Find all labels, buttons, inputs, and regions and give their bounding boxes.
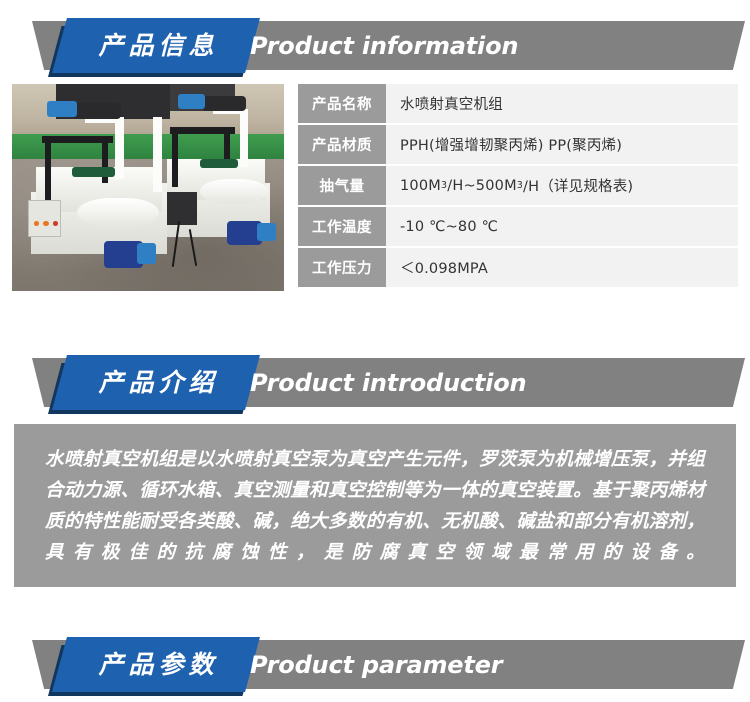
photo-machine1-roots-pump: [72, 103, 121, 120]
photo-machine2-top-rail: [170, 127, 235, 134]
spec-label: 抽气量: [298, 166, 386, 205]
table-row: 工作温度 -10 ℃~80 ℃: [298, 207, 738, 246]
section-header-product-introduction: 产品介绍 Product introduction: [0, 345, 750, 407]
product-information-content: 产品名称 水喷射真空机组 产品材质 PPH(增强增韧聚丙烯) PP(聚丙烯) 抽…: [0, 84, 750, 292]
banner-tab-product-introduction: 产品介绍: [52, 355, 260, 410]
spec-value: ＜0.098MPA: [386, 248, 738, 287]
photo-machine2-pipe-vertical: [240, 109, 247, 167]
photo-machine2-frame-left: [172, 130, 178, 188]
table-row: 工作压力 ＜0.098MPA: [298, 248, 738, 287]
product-introduction-text: 水喷射真空机组是以水喷射真空泵为真空产生元件，罗茨泵为机械增压泵，并组合动力源、…: [45, 444, 705, 568]
spec-value-mid: /H~500M: [447, 178, 517, 194]
photo-machine1-blue-pump: [137, 243, 156, 264]
photo-machine2-green-pump: [200, 159, 238, 168]
banner-tab-product-information: 产品信息: [52, 18, 260, 73]
spec-label: 产品材质: [298, 125, 386, 164]
photo-machine1-indicator-2: [43, 221, 48, 226]
photo-machine2-roots-pump: [202, 96, 246, 110]
banner-title-en: Product parameter: [250, 640, 502, 689]
table-row: 抽气量 100M3/H~500M3/H（详见规格表): [298, 166, 738, 205]
photo-machine1-pipe-right: [153, 117, 161, 192]
section-header-product-parameter: 产品参数 Product parameter: [0, 627, 750, 689]
product-photo: [12, 84, 284, 291]
photo-machine1-top-rail: [42, 136, 113, 143]
photo-machine1-tank: [77, 198, 159, 227]
spec-value-prefix: 100M: [400, 178, 441, 194]
photo-machine1-indicator-1: [34, 221, 39, 226]
spec-label: 工作压力: [298, 248, 386, 287]
spec-table: 产品名称 水喷射真空机组 产品材质 PPH(增强增韧聚丙烯) PP(聚丙烯) 抽…: [298, 84, 738, 292]
product-introduction-panel: 水喷射真空机组是以水喷射真空泵为真空产生元件，罗茨泵为机械增压泵，并组合动力源、…: [14, 424, 736, 587]
spec-value: PPH(增强增韧聚丙烯) PP(聚丙烯): [386, 125, 738, 164]
photo-machine2-tank: [200, 179, 268, 204]
section-header-product-information: 产品信息 Product information: [0, 8, 750, 70]
banner-title-en: Product information: [250, 21, 518, 70]
banner-tab-label-cn: 产品信息: [93, 33, 218, 58]
banner-title-en: Product introduction: [250, 358, 526, 407]
photo-machine1-control-box: [28, 200, 61, 237]
table-row: 产品名称 水喷射真空机组: [298, 84, 738, 123]
spec-label: 工作温度: [298, 207, 386, 246]
banner-tab-label-cn: 产品参数: [93, 652, 218, 677]
banner-tab-product-parameter: 产品参数: [52, 637, 260, 692]
spec-value: 100M3/H~500M3/H（详见规格表): [386, 166, 738, 205]
photo-machine2-motor: [178, 94, 205, 108]
photo-machine1-indicator-3: [53, 221, 58, 226]
photo-machine1-green-pump: [72, 167, 116, 177]
spec-label: 产品名称: [298, 84, 386, 123]
photo-machine1-motor: [47, 101, 77, 118]
banner-tab-label-cn: 产品介绍: [93, 370, 218, 395]
spec-value: -10 ℃~80 ℃: [386, 207, 738, 246]
spec-value: 水喷射真空机组: [386, 84, 738, 123]
photo-machine1-pipe-vertical: [115, 117, 123, 179]
spec-value-suffix: /H（详见规格表): [523, 175, 633, 196]
photo-machine2-control-panel: [167, 192, 197, 225]
table-row: 产品材质 PPH(增强增韧聚丙烯) PP(聚丙烯): [298, 125, 738, 164]
photo-machine2-blue-pump: [257, 223, 276, 242]
photo-machine1-frame-left: [45, 138, 52, 206]
